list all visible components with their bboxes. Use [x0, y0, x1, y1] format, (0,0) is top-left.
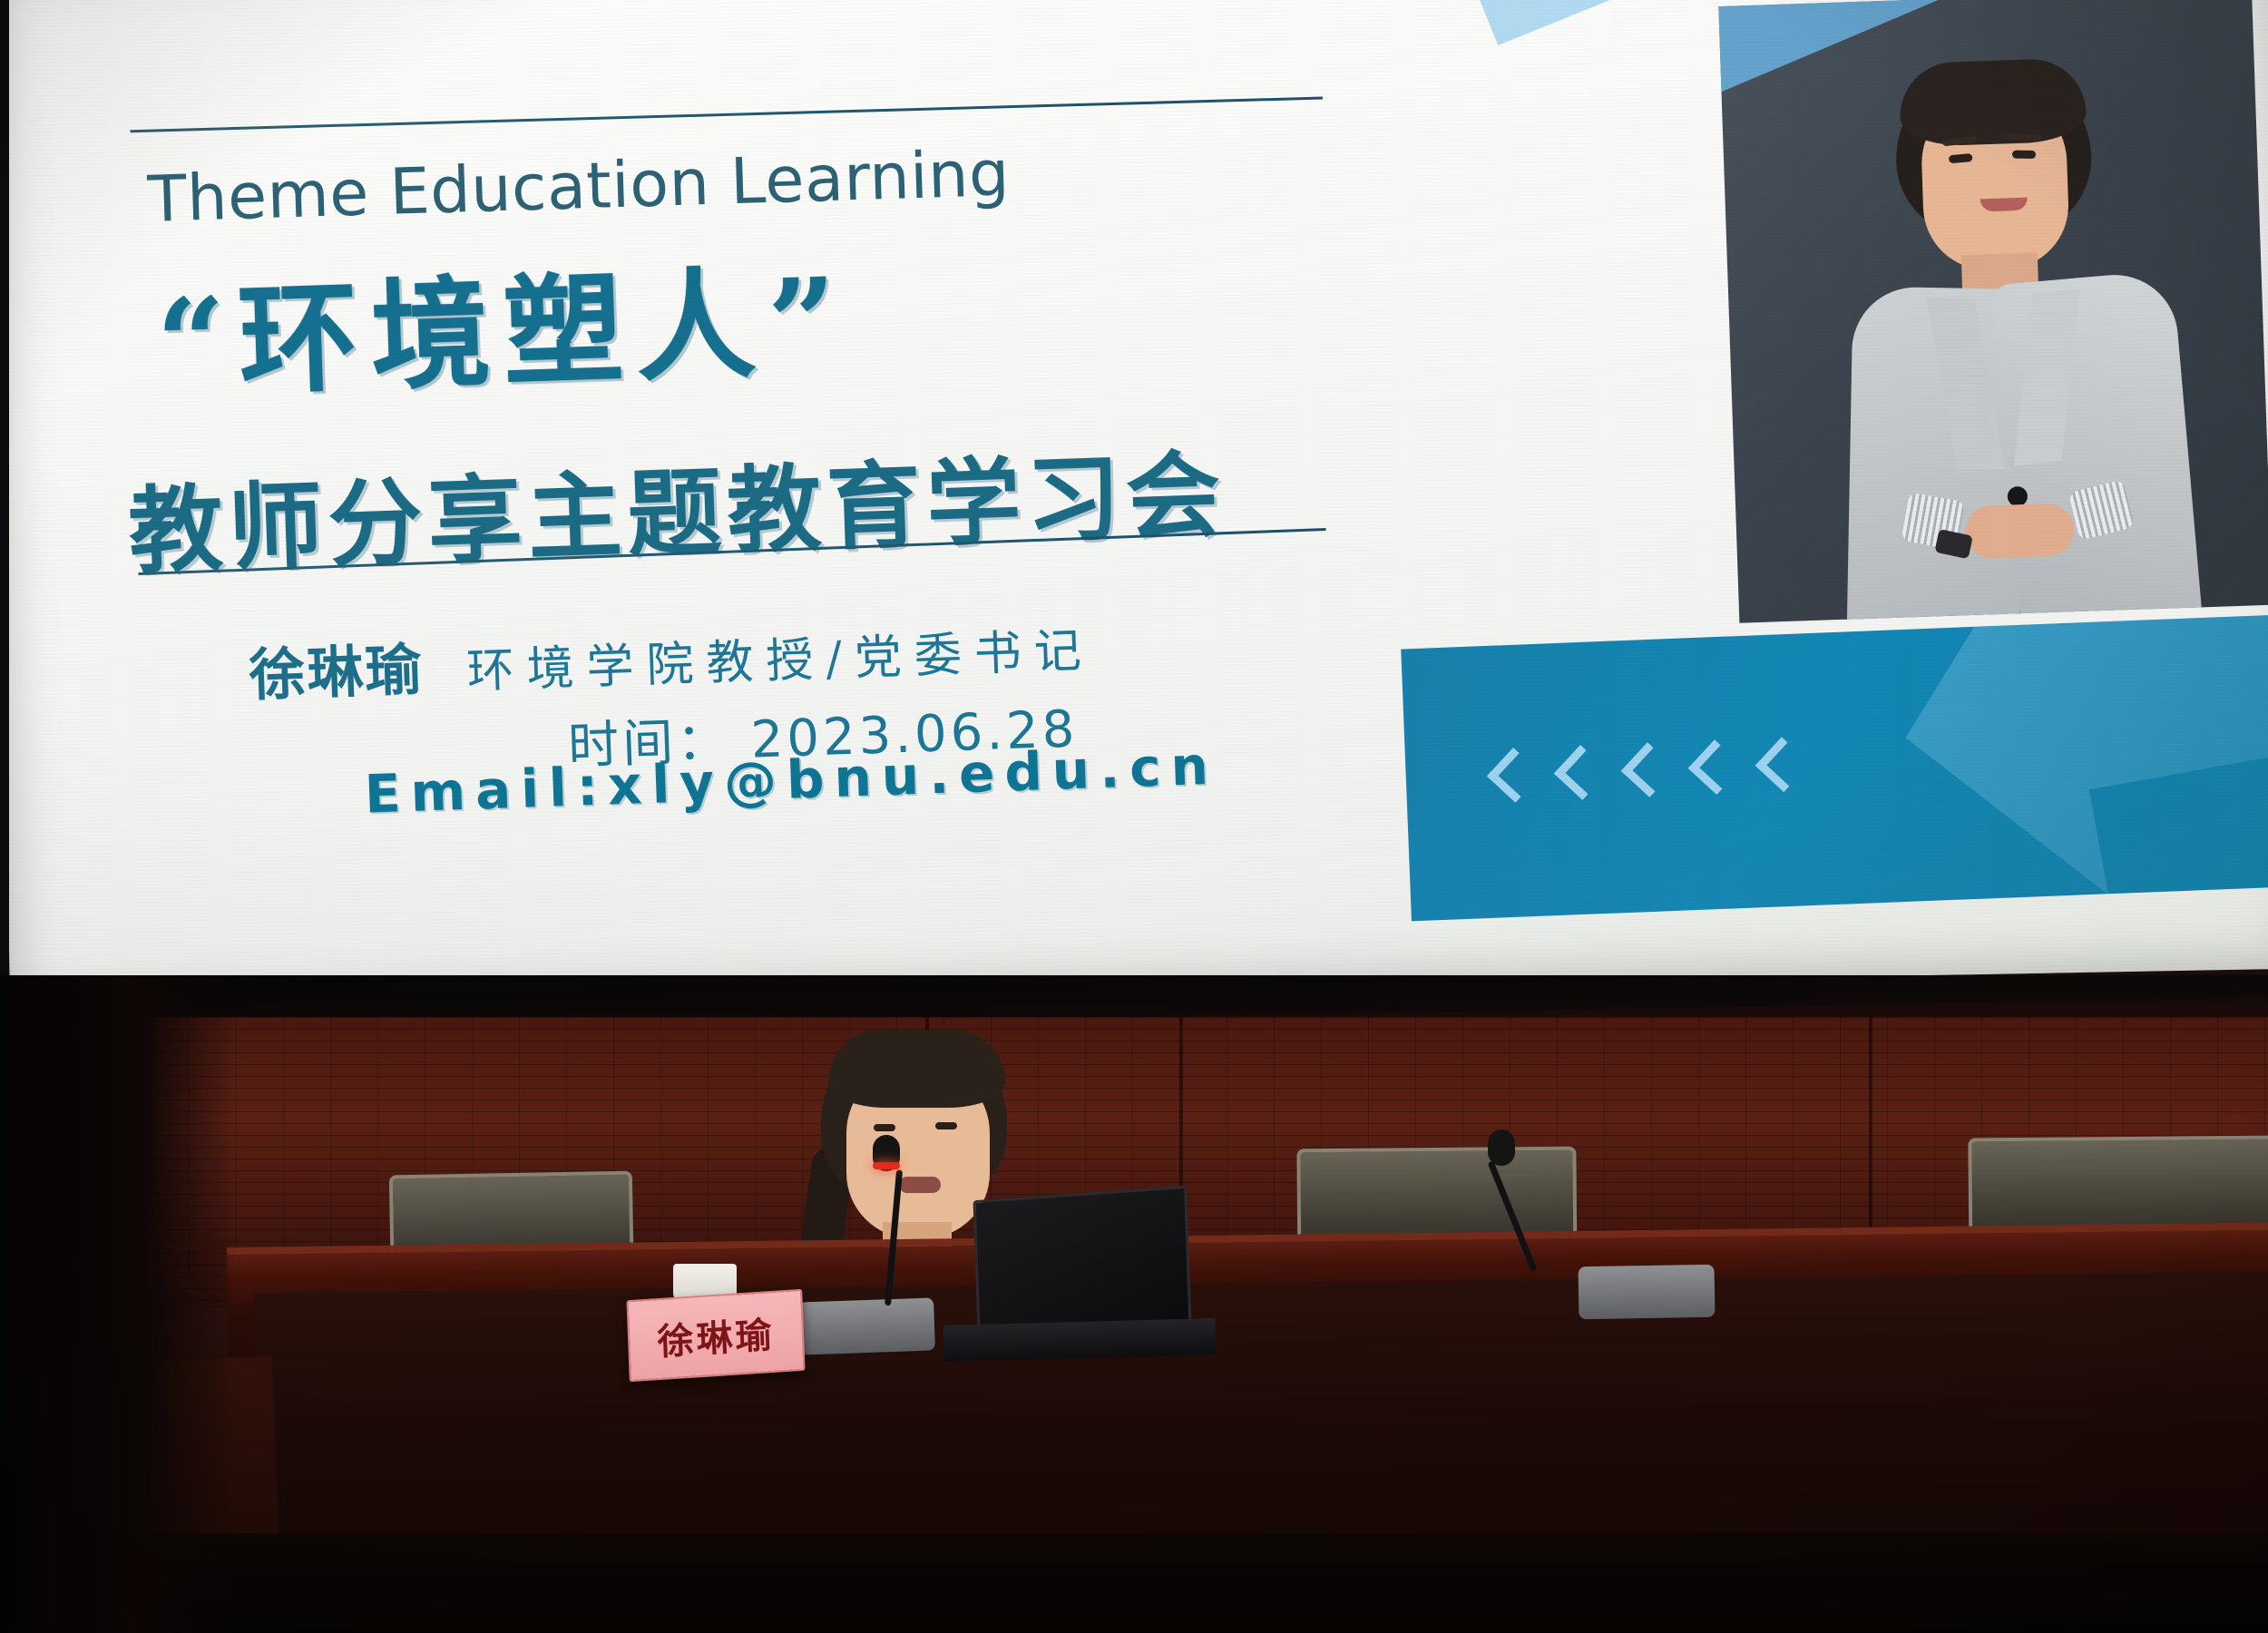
- microphone-head-icon: [1488, 1129, 1515, 1166]
- screen-left-edge: [0, 0, 9, 1025]
- chevron-left-icon: [1688, 743, 1737, 797]
- chevron-left-icon: [1554, 748, 1603, 803]
- nameplate: 徐琳瑜: [626, 1289, 805, 1382]
- chevron-left-icon: [1487, 751, 1536, 806]
- nameplate-text: 徐琳瑜: [656, 1305, 775, 1365]
- microphone-active-ring: [873, 1162, 900, 1169]
- portrait-fringe: [1899, 57, 2087, 147]
- chevron-left-icon: [1621, 746, 1670, 800]
- presenter-name: 徐琳瑜: [248, 623, 425, 710]
- portrait-eye-right: [2012, 151, 2036, 159]
- chevron-left-icon: [1755, 740, 1804, 795]
- slide-surface: Theme Education Learning “环境塑人” 教师分享主题教育…: [0, 0, 2268, 1011]
- chevron-row: [1487, 740, 1804, 806]
- screenshot-root: Theme Education Learning “环境塑人” 教师分享主题教育…: [0, 0, 2268, 1633]
- blue-accent-panel: [1401, 615, 2268, 921]
- speaker-eye-right: [935, 1122, 957, 1129]
- laptop-screen: [973, 1186, 1191, 1342]
- slide-eyebrow-text: Theme Education Learning: [147, 136, 1011, 237]
- microphone-base: [797, 1297, 935, 1354]
- slide-main-title: “环境塑人”: [154, 225, 853, 421]
- speaker-fringe: [828, 1030, 1005, 1108]
- speaker-eye-left: [874, 1124, 895, 1131]
- slide-email: Email:xly@bnu.edu.cn: [364, 735, 1219, 826]
- presenter-role: 环境学院教授/党委书记: [465, 611, 1095, 700]
- portrait-clasped-hands: [1964, 503, 2075, 559]
- left-shadow-gradient: [0, 975, 236, 1633]
- speaker-mouth: [899, 1177, 941, 1193]
- title-top-rule: [130, 97, 1323, 133]
- laptop-keyboard-base: [943, 1318, 1217, 1362]
- right-arrow-watermark-icon: [1872, 615, 2268, 921]
- microphone-base: [1579, 1265, 1716, 1320]
- projection-screen: Theme Education Learning “环境塑人” 教师分享主题教育…: [0, 0, 2268, 1025]
- foreground-shadow: [0, 1533, 2268, 1633]
- presenter-portrait-photo: [1718, 0, 2268, 623]
- slide-sub-title: 教师分享主题教育学习会: [126, 417, 1227, 592]
